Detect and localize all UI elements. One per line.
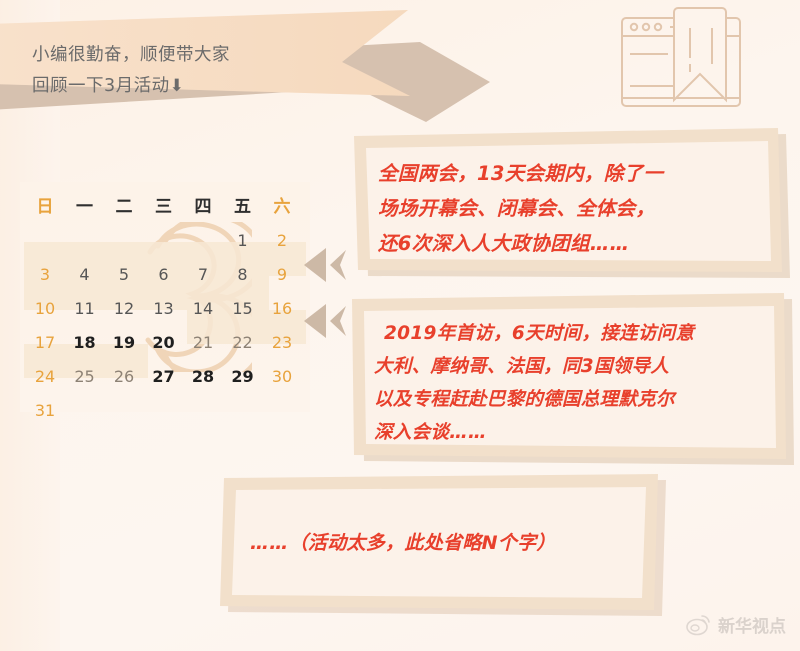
calendar-day-cell[interactable]: 23: [265, 334, 299, 352]
calendar-day-cell[interactable]: 25: [68, 368, 102, 386]
calendar-day-cell[interactable]: 6: [147, 266, 181, 284]
calendar-day-cell[interactable]: 26: [107, 368, 141, 386]
calendar-day-cell[interactable]: 31: [28, 402, 62, 420]
card-two-sessions: 全国两会，13天会期内，除了一 场场开幕会、闭幕会、全体会， 还6次深入人大政协…: [350, 126, 794, 284]
calendar-day-cell[interactable]: 11: [68, 300, 102, 318]
calendar-day-cell[interactable]: 30: [265, 368, 299, 386]
card-2-text: 2019年首访，6天时间，接连访问意 大利、摩纳哥、法国，同3国领导人 以及专程…: [374, 317, 774, 449]
card-2-line-2: 大利、摩纳哥、法国，同3国领导人: [374, 350, 774, 383]
calendar-day-cell[interactable]: 9: [265, 266, 299, 284]
calendar-day-cell[interactable]: 21: [186, 334, 220, 352]
calendar-day-cell[interactable]: 8: [226, 266, 260, 284]
calendar-day-cell[interactable]: 14: [186, 300, 220, 318]
calendar-day-cell[interactable]: 19: [107, 334, 141, 352]
infographic-canvas: 小编很勤奋，顺便带大家 回顾一下3月活动⬇: [0, 0, 800, 651]
card-1-text: 全国两会，13天会期内，除了一 场场开幕会、闭幕会、全体会， 还6次深入人大政协…: [378, 156, 768, 261]
watermark-text: 新华视点: [718, 612, 786, 637]
banner-text: 小编很勤奋，顺便带大家 回顾一下3月活动⬇: [32, 40, 362, 102]
calendar-weekday-header: 一: [68, 198, 102, 216]
calendar-day-cell[interactable]: 15: [226, 300, 260, 318]
pointer-arrow-1: [300, 246, 348, 284]
pointer-arrow-2: [300, 302, 348, 340]
calendar-day-cell[interactable]: 3: [28, 266, 62, 284]
card-1-line-2: 场场开幕会、闭幕会、全体会，: [378, 191, 768, 226]
calendar-day-cell[interactable]: 27: [147, 368, 181, 386]
calendar-day-cell[interactable]: 2: [265, 232, 299, 250]
calendar-day-cell[interactable]: 20: [147, 334, 181, 352]
calendar-weekday-header: 六: [265, 198, 299, 216]
calendar-day-cell[interactable]: 22: [226, 334, 260, 352]
down-arrow-icon: ⬇: [170, 76, 185, 96]
calendar-day-cell[interactable]: 17: [28, 334, 62, 352]
weibo-eye-icon: [686, 614, 712, 636]
calendar-day-cell[interactable]: 7: [186, 266, 220, 284]
calendar-day-cell[interactable]: 29: [226, 368, 260, 386]
calendar-day-cell[interactable]: 16: [265, 300, 299, 318]
calendar-weekday-header: 三: [147, 198, 181, 216]
card-omitted: ……（活动太多，此处省略N个字）: [214, 470, 674, 620]
calendar-weekday-header: 日: [28, 198, 62, 216]
banner-line-2: 回顾一下3月活动⬇: [32, 71, 362, 102]
card-2-line-3: 以及专程赶赴巴黎的德国总理默克尔: [374, 383, 774, 416]
calendar-day-cell[interactable]: 13: [147, 300, 181, 318]
calendar-day-cell[interactable]: 18: [68, 334, 102, 352]
card-2-line-4: 深入会谈……: [374, 416, 774, 449]
calendar-day-cell[interactable]: 28: [186, 368, 220, 386]
banner-ribbon: 小编很勤奋，顺便带大家 回顾一下3月活动⬇: [0, 4, 490, 124]
card-3-line-1: ……（活动太多，此处省略N个字）: [250, 528, 650, 558]
browser-bookmark-icon: [612, 2, 762, 114]
card-europe-visit: 2019年首访，6天时间，接连访问意 大利、摩纳哥、法国，同3国领导人 以及专程…: [348, 291, 798, 471]
calendar-day-cell[interactable]: 10: [28, 300, 62, 318]
calendar-day-cell[interactable]: 1: [226, 232, 260, 250]
calendar-day-cell[interactable]: 5: [107, 266, 141, 284]
card-2-line-1: 2019年首访，6天时间，接连访问意: [374, 317, 774, 350]
card-1-line-1: 全国两会，13天会期内，除了一: [378, 156, 768, 191]
calendar-day-cell[interactable]: 4: [68, 266, 102, 284]
watermark: 新华视点: [686, 612, 786, 637]
calendar-weekday-header: 四: [186, 198, 220, 216]
calendar-day-cell[interactable]: 12: [107, 300, 141, 318]
calendar-weekday-header: 五: [226, 198, 260, 216]
banner-line-1: 小编很勤奋，顺便带大家: [32, 45, 230, 65]
calendar-weekday-header: 二: [107, 198, 141, 216]
calendar-day-cell[interactable]: 24: [28, 368, 62, 386]
card-3-text: ……（活动太多，此处省略N个字）: [250, 528, 650, 558]
card-1-line-3: 还6次深入人大政协团组……: [378, 226, 768, 261]
